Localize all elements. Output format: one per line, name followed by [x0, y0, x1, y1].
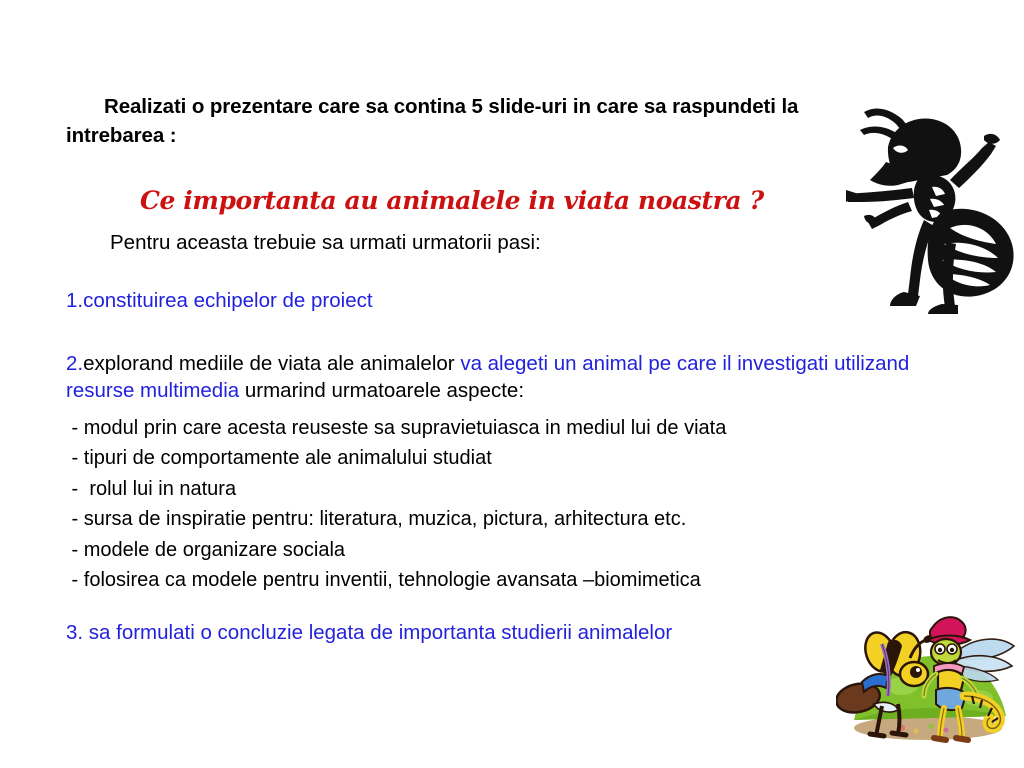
instruction-subline: Pentru aceasta trebuie sa urmati urmator…: [110, 230, 541, 257]
step-1-text: 1.constituirea echipelor de proiect: [66, 288, 373, 315]
list-item: - modul prin care acesta reuseste sa sup…: [66, 413, 956, 443]
intro-paragraph: Realizati o prezentare care sa contina 5…: [66, 92, 856, 150]
ant-silhouette-icon: [846, 92, 1024, 314]
step-2-number: 2.: [66, 352, 83, 375]
step-2-run-1: explorand mediile de viata ale animalelo…: [83, 352, 460, 375]
list-item: - sursa de inspiratie pentru: literatura…: [66, 504, 956, 534]
list-item: - folosirea ca modele pentru inventii, t…: [66, 565, 956, 595]
slide-canvas: Realizati o prezentare care sa contina 5…: [0, 0, 1024, 768]
ant-clipart: [846, 92, 1024, 314]
bee-and-dragonfly-clipart: [836, 612, 1022, 744]
aspect-bullet-list: - modul prin care acesta reuseste sa sup…: [66, 413, 956, 595]
bee-and-dragonfly-icon: [836, 612, 1022, 744]
red-question-title: Ce importanta au animalele in viata noas…: [140, 186, 900, 215]
step-3-text: 3. sa formulati o concluzie legata de im…: [66, 620, 672, 647]
step-2-run-3: urmarind urmatoarele aspecte:: [239, 379, 524, 402]
step-2-text: 2.explorand mediile de viata ale animale…: [66, 350, 946, 404]
list-item: - tipuri de comportamente ale animalului…: [66, 443, 956, 473]
intro-line-1: Realizati o prezentare care sa contina 5…: [104, 95, 666, 118]
list-item: - rolul lui in natura: [66, 474, 956, 504]
list-item: - modele de organizare sociala: [66, 535, 956, 565]
